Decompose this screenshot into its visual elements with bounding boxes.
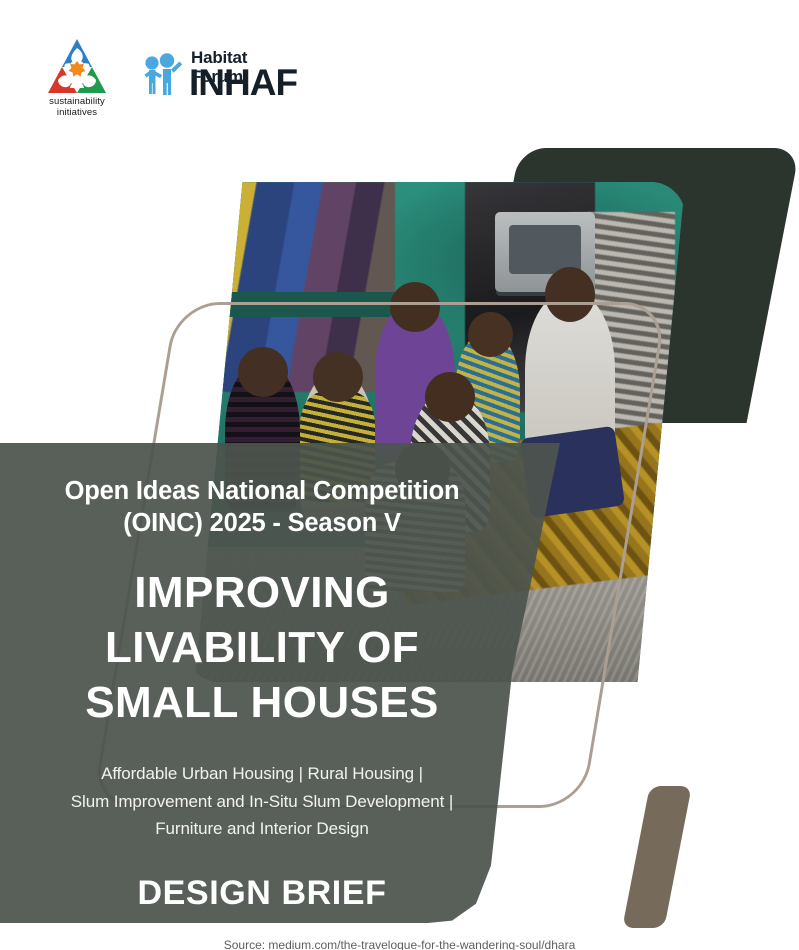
inhaf-logo: Habitat Forum INHAF <box>143 48 298 104</box>
inhaf-people-icon <box>143 52 185 96</box>
sustainability-initiatives-logo: sustainability initiatives <box>44 38 110 118</box>
page-title: IMPROVING LIVABILITY OF SMALL HOUSES <box>0 539 524 730</box>
source-credit: Source: medium.com/the-travelogue-for-th… <box>0 938 799 950</box>
inhaf-main-text: INHAF <box>189 63 297 103</box>
sustainability-triangle-icon <box>44 38 110 96</box>
sustainability-logo-line1: sustainability <box>38 96 116 107</box>
decor-slash <box>622 786 692 928</box>
category-list: Affordable Urban Housing | Rural Housing… <box>0 730 524 843</box>
title-block: Open Ideas National Competition (OINC) 2… <box>0 443 524 933</box>
document-type-label: DESIGN BRIEF <box>0 843 524 913</box>
sustainability-logo-text: sustainability initiatives <box>38 96 116 118</box>
cover-page: sustainability initiatives Habitat Forum… <box>0 0 799 950</box>
competition-kicker: Open Ideas National Competition (OINC) 2… <box>0 443 524 539</box>
logo-row: sustainability initiatives Habitat Forum… <box>0 0 799 140</box>
sustainability-logo-line2: initiatives <box>38 107 116 118</box>
